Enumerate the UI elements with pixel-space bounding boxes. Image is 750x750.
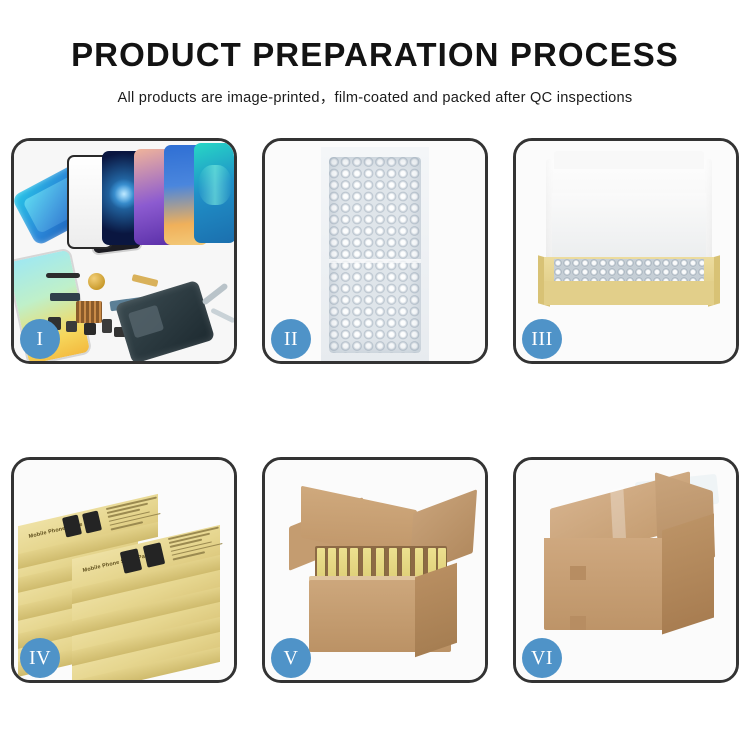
panel-step-6[interactable]: VI [513,457,739,683]
panel-step-1[interactable]: I [11,138,237,364]
step-badge-1: I [20,319,60,359]
carton-handle-tab-top [570,566,586,580]
part-small-module-4 [102,319,112,333]
sealed-carton-side [662,514,714,635]
inner-box-foam-sheet [552,193,706,257]
part-chip-grid [76,301,102,323]
panel-step-2[interactable]: II [262,138,488,364]
infographic-root: PRODUCT PREPARATION PROCESS All products… [0,0,750,750]
inner-box-front-panel [544,281,714,305]
page-title: PRODUCT PREPARATION PROCESS [0,36,750,74]
process-row-1: I II [11,138,739,364]
panel-step-3[interactable]: III [513,138,739,364]
step-badge-2: II [271,319,311,359]
header: PRODUCT PREPARATION PROCESS All products… [0,0,750,107]
panel-step-4[interactable]: Mobile Phone Spare Parts Mobile Phone Sp… [11,457,237,683]
bubble-wrap-pouch [329,157,421,353]
part-small-module-3 [84,323,96,335]
carton-handle-tab-bottom [570,616,586,630]
carton-side-face [415,563,457,657]
phone-screen-teal [194,143,234,243]
step-badge-3: III [522,319,562,359]
step-badge-6: VI [522,638,562,678]
bubble-wrap-seam [329,259,421,263]
sealed-carton-front [544,538,664,630]
page-subtitle: All products are image-printed，film-coat… [0,86,750,107]
part-flex-cable-1 [50,293,80,301]
bubble-wrap-sheet [321,147,429,361]
part-gold-coin-component [88,273,105,290]
panel-step-5[interactable]: V [262,457,488,683]
step-badge-4: IV [20,638,60,678]
part-connector-bar [46,273,80,278]
process-row-2: Mobile Phone Spare Parts Mobile Phone Sp… [11,457,739,683]
step-badge-5: V [271,638,311,678]
part-small-module-2 [66,321,77,332]
process-grid: I II [11,138,739,683]
